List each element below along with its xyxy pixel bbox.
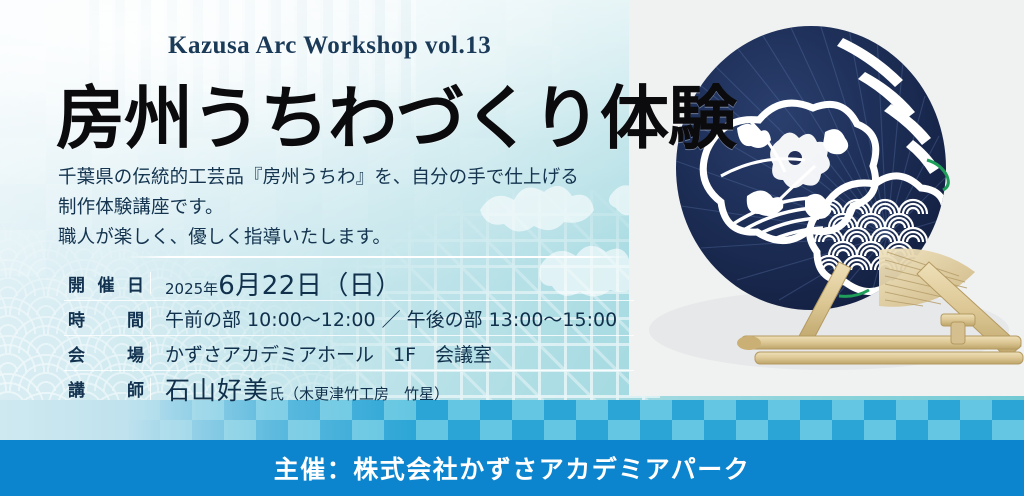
table-row-time: 時 間 午前の部 10:00〜12:00 ／ 午後の部 13:00〜15:00 [64,301,634,336]
details-divider [150,378,151,400]
label-char: 師 [127,376,144,401]
details-label-date: 開 催 日 [64,271,148,296]
description-line-1: 千葉県の伝統的工芸品『房州うちわ』を、自分の手で仕上げる [58,163,579,193]
details-divider [150,307,151,329]
details-divider [150,342,151,364]
label-char: 会 [68,341,85,366]
label-char: 催 [98,271,115,296]
ichimatsu-band [0,400,1024,440]
date-day: 6月22日（日） [218,271,402,301]
label-char: 間 [127,306,144,331]
details-value-instructor: 石山好美氏（木更津竹工房 竹星） [165,371,449,407]
table-row-instructor: 講 師 石山好美氏（木更津竹工房 竹星） [64,371,634,406]
instructor-affiliation: 氏（木更津竹工房 竹星） [269,385,449,403]
details-divider [150,272,151,294]
instructor-name: 石山好美 [165,376,269,405]
label-char: 時 [68,306,85,331]
details-label-time: 時 間 [64,306,148,331]
details-top-rule [126,256,626,258]
organizer-banner: 主催：株式会社かずさアカデミアパーク [0,440,1024,496]
table-row-venue: 会 場 かずさアカデミアホール 1F 会議室 [64,336,634,371]
page-title: 房州うちわづくり体験 [56,62,736,162]
workshop-series-title: Kazusa Arc Workshop vol.13 [168,32,491,60]
description-line-3: 職人が楽しく、優しく指導いたします。 [58,223,579,253]
details-value-venue: かずさアカデミアホール 1F 会議室 [165,340,492,367]
label-char: 開 [68,271,85,296]
details-value-time: 午前の部 10:00〜12:00 ／ 午後の部 13:00〜15:00 [165,305,617,332]
uchiwa-fan-photo [629,0,1024,396]
details-value-date: 2025年6月22日（日） [165,265,402,302]
date-year: 2025年 [165,280,218,298]
details-table: 開 催 日 2025年6月22日（日） 時 間 午前の部 10:00〜12:00… [64,266,634,406]
description-text: 千葉県の伝統的工芸品『房州うちわ』を、自分の手で仕上げる 制作体験講座です。 職… [58,163,579,253]
description-line-2: 制作体験講座です。 [58,193,579,223]
organizer-text: 主催：株式会社かずさアカデミアパーク [274,450,751,486]
poster-root: Kazusa Arc Workshop vol.13 房州うちわづくり体験 千葉… [0,0,1024,496]
table-row-date: 開 催 日 2025年6月22日（日） [64,266,634,301]
details-label-instructor: 講 師 [64,376,148,401]
label-char: 場 [127,341,144,366]
details-label-venue: 会 場 [64,341,148,366]
label-char: 講 [68,376,85,401]
label-char: 日 [127,271,144,296]
